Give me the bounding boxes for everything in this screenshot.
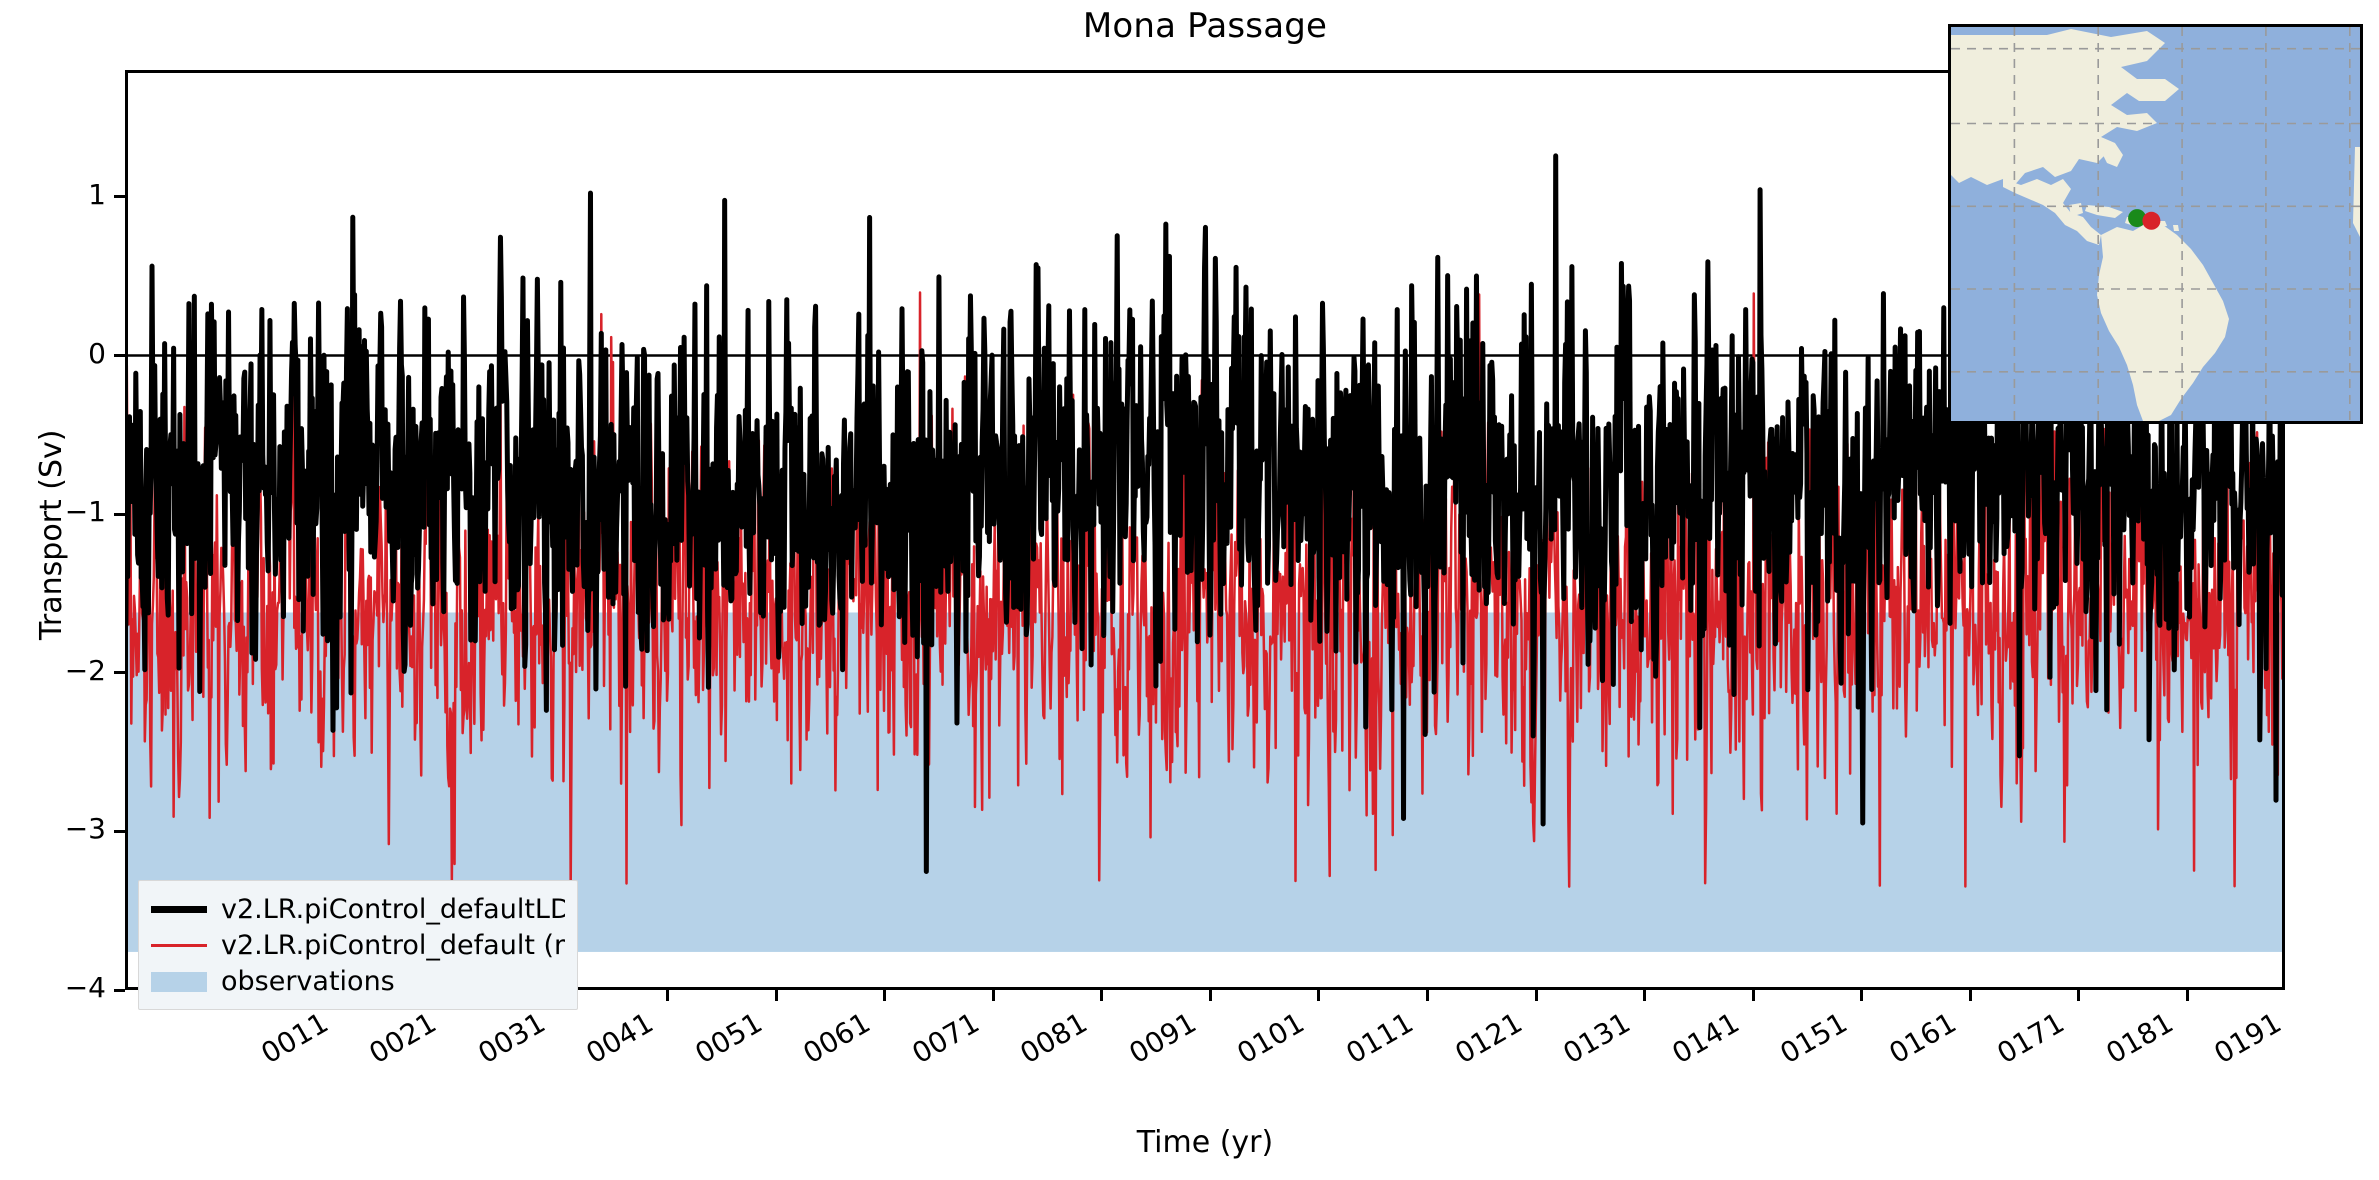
x-tick-mark [992,990,995,1001]
y-tick-label: −3 [36,812,106,845]
y-tick-label: 0 [36,337,106,370]
y-tick-mark [114,989,125,992]
x-tick-label: 0181 [2100,1006,2178,1070]
x-tick-label: 0011 [255,1006,333,1070]
y-tick-mark [114,195,125,198]
x-axis-label: Time (yr) [125,1125,2285,1160]
model-marker [2142,212,2160,230]
x-tick-label: 0031 [472,1006,550,1070]
x-tick-mark [1969,990,1972,1001]
x-tick-label: 0191 [2209,1006,2287,1070]
x-tick-label: 0041 [581,1006,659,1070]
legend-swatch-black-line [151,898,207,920]
y-tick-mark [114,354,125,357]
y-tick-mark [114,671,125,674]
chart-legend[interactable]: v2.LR.piControl_defaultLD (mean=-0.76 ± … [138,880,578,1010]
y-tick-mark [114,513,125,516]
location-inset-map [1948,24,2363,424]
x-tick-mark [775,990,778,1001]
x-tick-label: 0131 [1558,1006,1636,1070]
x-tick-mark [1209,990,1212,1001]
x-tick-label: 0081 [1015,1006,1093,1070]
x-tick-label: 0121 [1449,1006,1527,1070]
x-tick-label: 0061 [798,1006,876,1070]
x-tick-label: 0071 [906,1006,984,1070]
x-tick-mark [1643,990,1646,1001]
legend-label-defaultLD: v2.LR.piControl_defaultLD (mean=-0.76 ± … [221,894,565,925]
x-tick-label: 0151 [1775,1006,1853,1070]
x-tick-label: 0111 [1341,1006,1419,1070]
legend-item-defaultLD[interactable]: v2.LR.piControl_defaultLD (mean=-0.76 ± … [151,891,565,927]
x-tick-mark [883,990,886,1001]
legend-swatch-observations-patch [151,970,207,992]
y-tick-mark [114,830,125,833]
y-tick-label: −2 [36,654,106,687]
legend-swatch-red-line [151,934,207,956]
x-tick-label: 0051 [689,1006,767,1070]
x-tick-mark [1752,990,1755,1001]
x-tick-mark [1317,990,1320,1001]
inset-map-svg [1951,27,2360,421]
legend-item-observations[interactable]: observations [151,963,565,999]
x-tick-label: 0101 [1232,1006,1310,1070]
x-tick-mark [1100,990,1103,1001]
x-tick-mark [666,990,669,1001]
x-tick-mark [2186,990,2189,1001]
x-tick-mark [2077,990,2080,1001]
x-tick-label: 0091 [1123,1006,1201,1070]
x-tick-mark [1535,990,1538,1001]
y-axis-label: Transport (Sv) [34,429,69,640]
x-tick-label: 0141 [1666,1006,1744,1070]
y-tick-label: 1 [36,178,106,211]
legend-label-observations: observations [221,966,395,997]
map-land-polygon [2173,225,2179,231]
y-tick-label: −1 [36,495,106,528]
legend-label-default: v2.LR.piControl_default (mean=-1.57 ± 0.… [221,930,565,961]
legend-item-default[interactable]: v2.LR.piControl_default (mean=-1.57 ± 0.… [151,927,565,963]
x-tick-label: 0171 [1992,1006,2070,1070]
x-tick-mark [1426,990,1429,1001]
x-tick-mark [1860,990,1863,1001]
y-tick-label: −4 [36,971,106,1004]
x-tick-label: 0161 [1883,1006,1961,1070]
figure-canvas: Mona Passage Transport (Sv) Time (yr) 10… [0,0,2379,1180]
x-tick-label: 0021 [364,1006,442,1070]
